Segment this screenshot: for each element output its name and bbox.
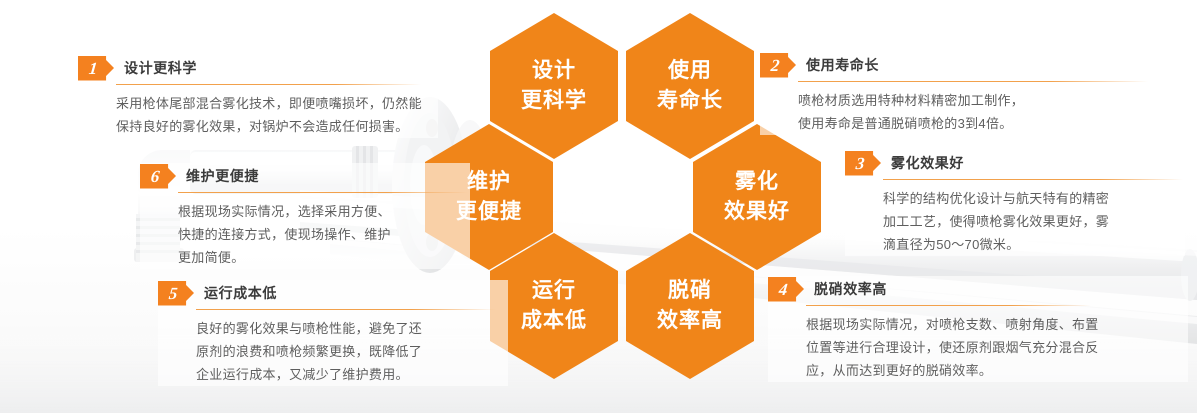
number-badge-icon: 3	[845, 151, 881, 176]
badge-number: 2	[770, 57, 780, 74]
badge-number: 5	[168, 285, 178, 302]
feature-header: 1 设计更科学	[78, 55, 438, 81]
feature-line: 应，从而达到更好的脱硝效率。	[806, 359, 1188, 382]
divider	[806, 305, 1091, 306]
feature-line: 喷枪材质选用特种材料精密加工制作，	[798, 89, 1160, 112]
badge-number: 4	[778, 281, 788, 298]
number-badge-icon: 6	[140, 164, 176, 189]
feature-line: 滴直径为50～70微米。	[883, 233, 1185, 256]
hex-line-1: 脱硝	[668, 276, 712, 306]
feature-line: 位置等进行合理设计，使还原剂跟烟气充分混合反	[806, 336, 1188, 359]
feature-line: 快捷的连接方式，使现场操作、维护	[178, 223, 470, 246]
hex-line-1: 使用	[668, 56, 712, 86]
feature-header: 2 使用寿命长	[760, 52, 1160, 78]
hex-line-2: 成本低	[521, 306, 587, 336]
hex-line-1: 雾化	[735, 167, 779, 197]
hex-line-2: 效率高	[657, 306, 723, 336]
hex-line-2: 寿命长	[657, 86, 723, 116]
hex-line-2: 更科学	[521, 86, 587, 116]
number-badge-icon: 4	[768, 277, 804, 302]
hex-line-1: 设计	[532, 56, 576, 86]
hex-long-service-life[interactable]: 使用 寿命长	[626, 13, 754, 159]
feature-title: 雾化效果好	[891, 153, 964, 173]
feature-line: 良好的雾化效果与喷枪性能，避免了还	[196, 317, 508, 340]
feature-block-1: 1 设计更科学 采用枪体尾部混合雾化技术，即便喷嘴损坏，仍然能 保持良好的雾化效…	[78, 55, 438, 138]
feature-line: 原剂的浪费和喷枪频繁更换，既降低了	[196, 340, 508, 363]
feature-title: 设计更科学	[124, 58, 197, 78]
badge-number: 6	[150, 168, 160, 185]
feature-block-5: 5 运行成本低 良好的雾化效果与喷枪性能，避免了还 原剂的浪费和喷枪频繁更换，既…	[158, 280, 508, 386]
feature-line: 使用寿命是普通脱硝喷枪的3到4倍。	[798, 112, 1160, 135]
feature-title: 脱硝效率高	[814, 279, 887, 299]
feature-line: 更加简便。	[178, 246, 470, 269]
feature-line: 保持良好的雾化效果，对锅炉不会造成任何损害。	[116, 115, 438, 138]
feature-block-4: 4 脱硝效率高 根据现场实际情况，对喷枪支数、喷射角度、布置 位置等进行合理设计…	[768, 276, 1188, 382]
divider	[116, 84, 421, 85]
number-badge-icon: 5	[158, 281, 194, 306]
divider	[178, 192, 468, 193]
feature-header: 5 运行成本低	[158, 280, 508, 306]
badge-number: 3	[855, 155, 865, 172]
feature-title: 维护更便捷	[186, 166, 259, 186]
feature-header: 3 雾化效果好	[845, 150, 1185, 176]
feature-title: 使用寿命长	[806, 55, 879, 75]
infographic-canvas: 设计 更科学 使用 寿命长 维护 更便捷 雾化 效果好 运行 成本低 脱硝 效率…	[0, 0, 1197, 413]
feature-line: 根据现场实际情况，对喷枪支数、喷射角度、布置	[806, 313, 1188, 336]
divider	[883, 179, 1183, 180]
feature-body: 喷枪材质选用特种材料精密加工制作， 使用寿命是普通脱硝喷枪的3到4倍。	[760, 89, 1160, 135]
feature-body: 采用枪体尾部混合雾化技术，即便喷嘴损坏，仍然能 保持良好的雾化效果，对锅炉不会造…	[78, 92, 438, 138]
feature-line: 加工工艺，使得喷枪雾化效果更好，雾	[883, 210, 1185, 233]
feature-line: 科学的结构优化设计与航天特有的精密	[883, 187, 1185, 210]
feature-block-3: 3 雾化效果好 科学的结构优化设计与航天特有的精密 加工工艺，使得喷枪雾化效果更…	[845, 150, 1185, 256]
badge-number: 1	[88, 60, 98, 77]
divider	[798, 81, 1148, 82]
feature-header: 6 维护更便捷	[140, 163, 470, 189]
feature-line: 企业运行成本，又减少了维护费用。	[196, 363, 508, 386]
feature-block-2: 2 使用寿命长 喷枪材质选用特种材料精密加工制作， 使用寿命是普通脱硝喷枪的3到…	[760, 52, 1160, 135]
divider	[196, 309, 496, 310]
feature-line: 采用枪体尾部混合雾化技术，即便喷嘴损坏，仍然能	[116, 92, 438, 115]
feature-title: 运行成本低	[204, 283, 277, 303]
feature-block-6: 6 维护更便捷 根据现场实际情况，选择采用方便、 快捷的连接方式，使现场操作、维…	[140, 163, 470, 269]
feature-body: 根据现场实际情况，对喷枪支数、喷射角度、布置 位置等进行合理设计，使还原剂跟烟气…	[768, 313, 1188, 382]
number-badge-icon: 2	[760, 53, 796, 78]
feature-header: 4 脱硝效率高	[768, 276, 1188, 302]
feature-line: 根据现场实际情况，选择采用方便、	[178, 200, 470, 223]
number-badge-icon: 1	[78, 56, 114, 81]
hex-line-1: 运行	[532, 276, 576, 306]
hex-line-1: 维护	[467, 167, 511, 197]
feature-body: 良好的雾化效果与喷枪性能，避免了还 原剂的浪费和喷枪频繁更换，既降低了 企业运行…	[158, 317, 508, 386]
feature-body: 科学的结构优化设计与航天特有的精密 加工工艺，使得喷枪雾化效果更好，雾 滴直径为…	[845, 187, 1185, 256]
hex-line-2: 效果好	[724, 197, 790, 227]
feature-body: 根据现场实际情况，选择采用方便、 快捷的连接方式，使现场操作、维护 更加简便。	[140, 200, 470, 269]
